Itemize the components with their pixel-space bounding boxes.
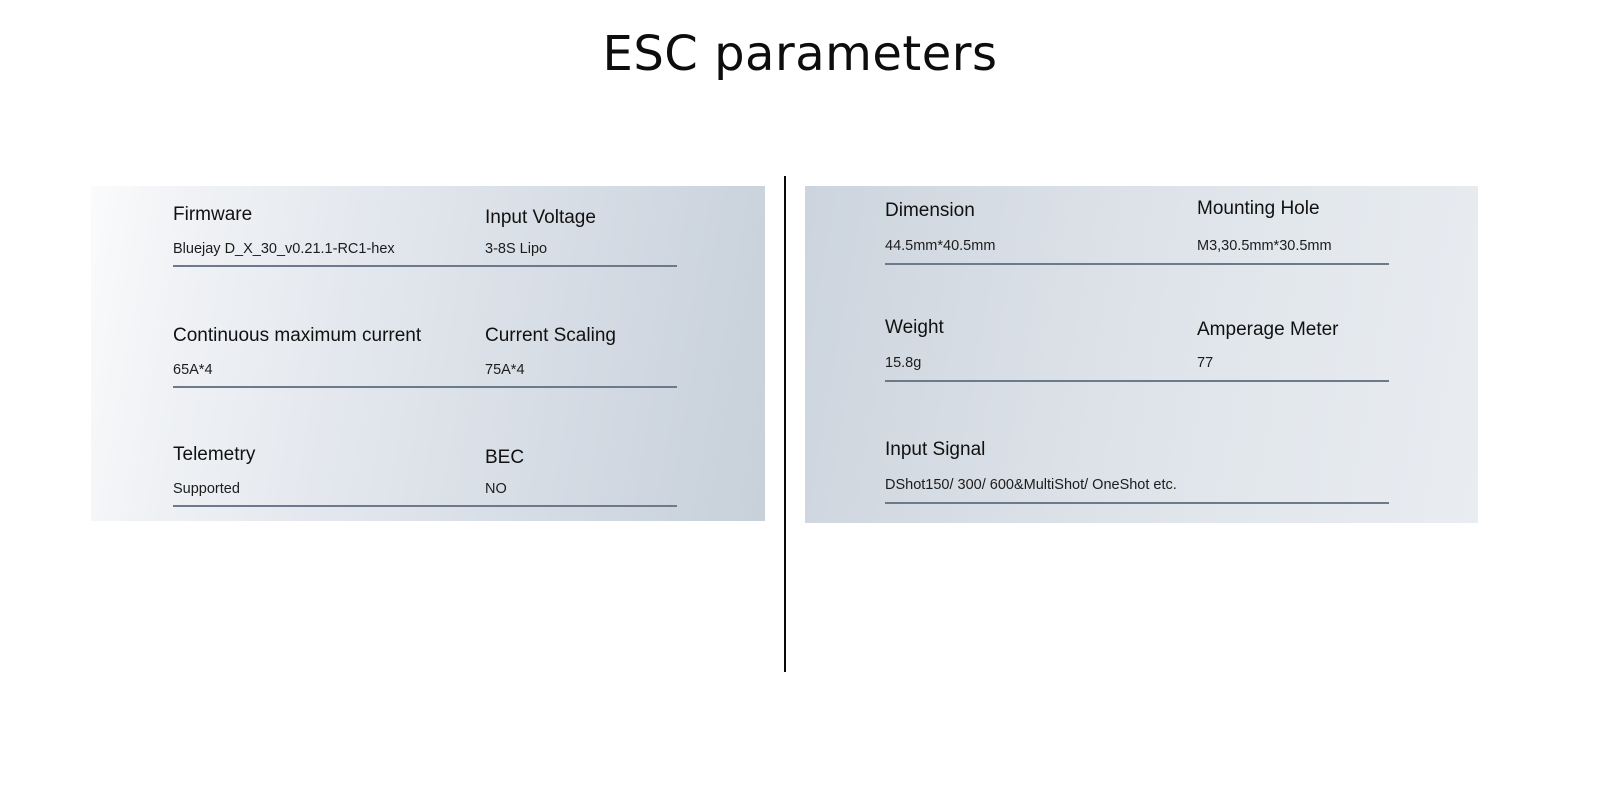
spec-value: 65A*4 (173, 362, 485, 379)
spec-underline (485, 505, 677, 507)
spec-underline (1197, 380, 1389, 382)
spec-row: Continuous maximum current 65A*4 Current… (173, 325, 677, 388)
spec-value: M3,30.5mm*30.5mm (1197, 238, 1389, 255)
spec-label: Amperage Meter (1197, 319, 1389, 342)
spec-cell-input-signal: Input Signal DShot150/ 300/ 600&MultiSho… (885, 439, 1389, 504)
spec-cell-continuous-maximum-current: Continuous maximum current 65A*4 (173, 325, 485, 388)
spec-cell-current-scaling: Current Scaling 75A*4 (485, 325, 677, 388)
left-spec-panel: Firmware Bluejay D_X_30_v0.21.1-RC1-hex … (91, 186, 765, 521)
spec-value: Supported (173, 481, 485, 498)
spec-label: BEC (485, 447, 677, 470)
spec-underline (1197, 263, 1389, 265)
spec-row: Dimension 44.5mm*40.5mm Mounting Hole M3… (885, 200, 1389, 265)
spec-value: Bluejay D_X_30_v0.21.1-RC1-hex (173, 241, 485, 258)
spec-value: DShot150/ 300/ 600&MultiShot/ OneShot et… (885, 477, 1389, 494)
right-spec-panel: Dimension 44.5mm*40.5mm Mounting Hole M3… (805, 186, 1478, 523)
spec-cell-mounting-hole: Mounting Hole M3,30.5mm*30.5mm (1197, 200, 1389, 265)
spec-label: Input Signal (885, 439, 1389, 462)
spec-cell-telemetry: Telemetry Supported (173, 444, 485, 507)
spec-underline (885, 263, 1197, 265)
spec-label: Telemetry (173, 444, 485, 467)
spec-underline (173, 505, 485, 507)
spec-value: NO (485, 481, 677, 498)
spec-cell-firmware: Firmware Bluejay D_X_30_v0.21.1-RC1-hex (173, 204, 485, 267)
panel-divider (784, 176, 786, 672)
spec-underline (485, 265, 677, 267)
spec-underline (485, 386, 677, 388)
spec-row: Telemetry Supported BEC NO (173, 444, 677, 507)
spec-value: 15.8g (885, 355, 1197, 372)
spec-underline (173, 386, 485, 388)
left-spec-grid: Firmware Bluejay D_X_30_v0.21.1-RC1-hex … (91, 186, 765, 521)
spec-label: Continuous maximum current (173, 325, 485, 348)
page-title: ESC parameters (0, 28, 1600, 81)
spec-cell-weight: Weight 15.8g (885, 317, 1197, 382)
spec-cell-dimension: Dimension 44.5mm*40.5mm (885, 200, 1197, 265)
spec-value: 44.5mm*40.5mm (885, 238, 1197, 255)
spec-underline (885, 502, 1389, 504)
spec-label: Current Scaling (485, 325, 677, 348)
spec-value: 75A*4 (485, 362, 677, 379)
spec-row: Input Signal DShot150/ 300/ 600&MultiSho… (885, 439, 1389, 504)
spec-cell-input-voltage: Input Voltage 3-8S Lipo (485, 204, 677, 267)
spec-label: Firmware (173, 204, 485, 227)
spec-value: 77 (1197, 355, 1389, 372)
spec-label: Dimension (885, 200, 1197, 223)
spec-value: 3-8S Lipo (485, 241, 677, 258)
spec-row: Weight 15.8g Amperage Meter 77 (885, 317, 1389, 382)
spec-underline (173, 265, 485, 267)
spec-cell-bec: BEC NO (485, 444, 677, 507)
spec-row: Firmware Bluejay D_X_30_v0.21.1-RC1-hex … (173, 204, 677, 267)
spec-label: Weight (885, 317, 1197, 340)
spec-cell-amperage-meter: Amperage Meter 77 (1197, 317, 1389, 382)
spec-label: Input Voltage (485, 207, 677, 230)
right-spec-grid: Dimension 44.5mm*40.5mm Mounting Hole M3… (805, 186, 1478, 523)
spec-underline (885, 380, 1197, 382)
spec-label: Mounting Hole (1197, 198, 1389, 221)
